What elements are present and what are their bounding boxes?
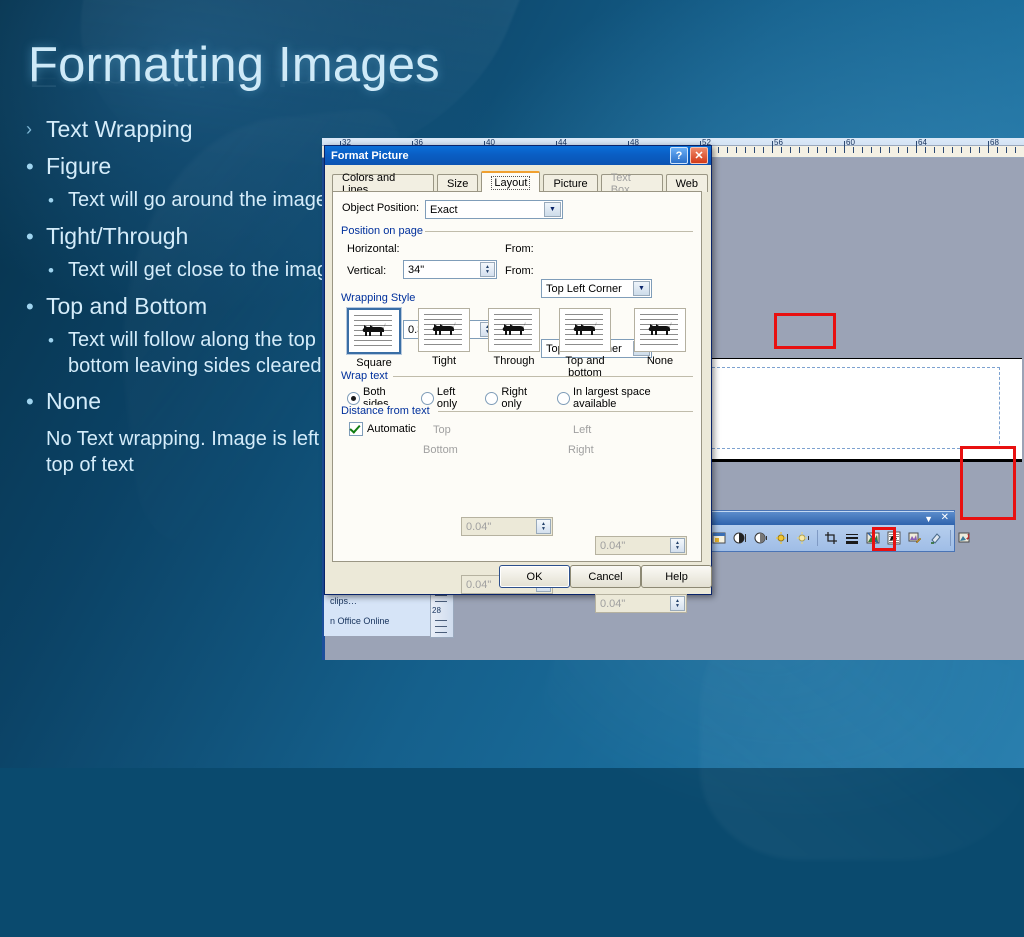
- wrap-style-label: None: [633, 355, 687, 367]
- bullet-marker-icon: ›: [26, 114, 46, 144]
- distance-group-label: Distance from text: [341, 405, 434, 417]
- ruler-tick-minor: [871, 147, 872, 153]
- insert-picture-icon[interactable]: [709, 528, 729, 548]
- right-label: Right: [568, 444, 594, 456]
- tab-web[interactable]: Web: [666, 174, 708, 192]
- wrap-style-preview-icon: [418, 308, 470, 352]
- ruler-tick-minor: [862, 147, 863, 153]
- wrapping-style-group-label: Wrapping Style: [341, 292, 419, 304]
- ruler-tick-minor: [790, 147, 791, 153]
- bullet-text: None: [46, 386, 101, 417]
- ruler-tick-minor: [979, 147, 980, 153]
- toolbar-separator: [950, 530, 951, 546]
- vertical-ruler-number: 28: [432, 606, 441, 615]
- automatic-label: Automatic: [367, 423, 416, 435]
- tab-label: Layout: [491, 176, 530, 190]
- ruler-tick-minor: [1006, 147, 1007, 153]
- dialog-tab-strip: Colors and LinesSizeLayoutPictureText Bo…: [332, 173, 711, 192]
- toolbar-button-row: [709, 527, 975, 549]
- toolbar-title-bar[interactable]: ▼ ✕: [707, 512, 955, 525]
- dialog-body: Colors and LinesSizeLayoutPictureText Bo…: [325, 165, 711, 594]
- reset-picture-icon[interactable]: [954, 528, 974, 548]
- ruler-tick-minor: [880, 147, 881, 153]
- tab-size[interactable]: Size: [437, 174, 478, 192]
- ruler-tick-major: [988, 141, 989, 153]
- ruler-tick-minor: [952, 147, 953, 153]
- checkbox-box[interactable]: [349, 422, 363, 436]
- dialog-title-bar[interactable]: Format Picture ? ✕: [325, 146, 711, 165]
- automatic-checkbox[interactable]: Automatic: [349, 422, 416, 436]
- more-brightness-icon[interactable]: [772, 528, 792, 548]
- bullet-text: Text Wrapping: [46, 114, 193, 144]
- horizontal-from-value: Top Left Corner: [546, 283, 622, 295]
- bullet-marker-icon: •: [48, 327, 68, 354]
- line-style-icon[interactable]: [842, 528, 862, 548]
- tab-label: Web: [676, 178, 698, 190]
- left-distance-stepper: ▲▼: [670, 538, 685, 553]
- ruler-tick-minor: [799, 147, 800, 153]
- bottom-label: Bottom: [423, 444, 458, 456]
- vertical-ruler[interactable]: 28: [430, 588, 454, 638]
- right-distance-value: 0.04": [600, 598, 625, 610]
- ruler-number: 68: [990, 138, 999, 147]
- horizontal-value: 34": [408, 264, 424, 276]
- object-position-value: Exact: [430, 204, 458, 216]
- ruler-number: 64: [918, 138, 927, 147]
- ruler-tick-minor: [745, 147, 746, 153]
- tab-colors-and-lines[interactable]: Colors and Lines: [332, 174, 434, 192]
- ruler-tick-minor: [817, 147, 818, 153]
- bullet-marker-icon: •: [26, 291, 46, 322]
- toolbar-options-dropdown-icon[interactable]: ▼: [924, 514, 933, 524]
- bullet-marker-icon: •: [26, 386, 46, 417]
- wrap-style-label: Tight: [417, 355, 471, 367]
- radio-dot[interactable]: [557, 392, 570, 405]
- wrap-text-group-label: Wrap text: [341, 370, 392, 382]
- ruler-tick-minor: [943, 147, 944, 153]
- help-button[interactable]: Help: [641, 565, 712, 588]
- cancel-button[interactable]: Cancel: [570, 565, 641, 588]
- format-picture-dialog: Format Picture ? ✕ Colors and LinesSizeL…: [324, 145, 712, 595]
- position-on-page-group-label: Position on page: [341, 225, 427, 237]
- wrap-text-radio-right-only[interactable]: Right only: [485, 386, 548, 410]
- bullet-text: Tight/Through: [46, 221, 188, 252]
- bullet-marker-icon: •: [48, 257, 68, 284]
- slide-bullet-level3: •Text will get close to the image: [48, 257, 356, 284]
- horizontal-from-label: From:: [505, 243, 534, 255]
- ruler-tick-minor: [925, 147, 926, 153]
- ruler-tick-minor: [826, 147, 827, 153]
- slide-bullet-level2: •Top and Bottom: [26, 291, 356, 322]
- ruler-tick-minor: [718, 147, 719, 153]
- ruler-tick-minor: [763, 147, 764, 153]
- more-contrast-icon[interactable]: [730, 528, 750, 548]
- toolbar-highlight-box: [872, 527, 896, 551]
- toolbar-close-icon[interactable]: ✕: [941, 513, 949, 523]
- radio-label: Left only: [437, 386, 477, 410]
- bullet-text: Text will go around the image: [68, 187, 327, 213]
- vertical-label: Vertical:: [347, 265, 386, 277]
- vertical-from-label: From:: [505, 265, 534, 277]
- radio-dot[interactable]: [347, 392, 360, 405]
- chevron-down-icon[interactable]: ▼: [544, 202, 561, 217]
- ruler-tick-major: [844, 141, 845, 153]
- left-distance-value: 0.04": [600, 540, 625, 552]
- ruler-tick-minor: [727, 147, 728, 153]
- right-distance-stepper: ▲▼: [670, 596, 685, 611]
- ruler-tick-minor: [934, 147, 935, 153]
- crop-icon[interactable]: [821, 528, 841, 548]
- ruler-tick-minor: [853, 147, 854, 153]
- bullet-text: Text will follow along the top and botto…: [68, 327, 356, 379]
- radio-label: Right only: [501, 386, 548, 410]
- horizontal-stepper[interactable]: ▲▼: [480, 262, 495, 277]
- slide-paragraph: No Text wrapping. Image is left on top o…: [46, 426, 356, 478]
- ruler-tick-minor: [997, 147, 998, 153]
- top-distance-stepper: ▲▼: [536, 519, 551, 534]
- ruler-tick-minor: [961, 147, 962, 153]
- ruler-tick-minor: [907, 147, 908, 153]
- picture-toolbar: ▼ ✕: [705, 510, 955, 552]
- ok-button[interactable]: OK: [499, 565, 570, 588]
- wrap-style-label: Through: [487, 355, 541, 367]
- less-brightness-icon[interactable]: [793, 528, 813, 548]
- wrap-style-preview-icon: [634, 308, 686, 352]
- tab-label: Picture: [553, 178, 587, 190]
- less-contrast-icon[interactable]: [751, 528, 771, 548]
- wrapping-style-square[interactable]: Square: [347, 308, 401, 369]
- horizontal-label: Horizontal:: [347, 243, 400, 255]
- top-distance-value: 0.04": [466, 521, 491, 533]
- clip-art-task-pane: clips… n Office Online: [322, 588, 432, 636]
- object-position-label: Object Position:: [342, 202, 419, 214]
- right-distance-input: 0.04" ▲▼: [595, 594, 687, 613]
- wrapping-style-through[interactable]: Through: [487, 308, 541, 367]
- bullet-text: Figure: [46, 151, 111, 182]
- slide-bullet-level2: •None: [26, 386, 356, 417]
- bullet-marker-icon: •: [26, 151, 46, 182]
- close-icon[interactable]: ✕: [690, 147, 708, 164]
- top-label: Top: [433, 424, 451, 436]
- ruler-tick-minor: [835, 147, 836, 153]
- ruler-tick-minor: [970, 147, 971, 153]
- dialog-button-row: OK Cancel Help: [325, 565, 711, 593]
- tab-layout[interactable]: Layout: [481, 171, 540, 192]
- taskpane-link-office-online[interactable]: n Office Online: [330, 616, 389, 626]
- help-icon[interactable]: ?: [670, 147, 688, 164]
- bullet-marker-icon: •: [48, 187, 68, 214]
- wrap-style-preview-icon: [559, 308, 611, 352]
- radio-dot[interactable]: [485, 392, 498, 405]
- wrap-style-preview-icon: [488, 308, 540, 352]
- ruler-tick-minor: [781, 147, 782, 153]
- tab-text-box: Text Box: [601, 174, 663, 192]
- page-title: Formatting Images: [28, 41, 440, 90]
- dialog-title: Format Picture: [331, 150, 668, 162]
- slide-bullet-list: ›Text Wrapping•Figure•Text will go aroun…: [26, 108, 356, 478]
- layout-tab-panel: Object Position: Exact ▼ Position on pag…: [332, 191, 702, 562]
- ruler-tick-minor: [736, 147, 737, 153]
- ruler-tick-major: [916, 141, 917, 153]
- ruler-tick-minor: [1015, 147, 1016, 153]
- set-transparent-color-icon[interactable]: [926, 528, 946, 548]
- ruler-number: 60: [846, 138, 855, 147]
- wrap-text-radio-in-largest-space-available[interactable]: In largest space available: [557, 386, 692, 410]
- wrapping-style-none[interactable]: None: [633, 308, 687, 367]
- paragraph-text: No Text wrapping. Image is left on top o…: [46, 426, 356, 478]
- top-distance-input: 0.04" ▲▼: [461, 517, 553, 536]
- slide-bullet-level2: •Figure: [26, 151, 356, 182]
- ruler-number: 56: [774, 138, 783, 147]
- taskpane-link-clips[interactable]: clips…: [330, 596, 357, 606]
- radio-dot[interactable]: [421, 392, 434, 405]
- ruler-tick-minor: [754, 147, 755, 153]
- slide-bullet-level3: •Text will follow along the top and bott…: [48, 327, 356, 379]
- chevron-down-icon[interactable]: ▼: [633, 281, 650, 296]
- wrap-style-label: Square: [347, 357, 401, 369]
- ruler-tick-minor: [898, 147, 899, 153]
- format-picture-icon[interactable]: [905, 528, 925, 548]
- left-label: Left: [573, 424, 591, 436]
- radio-label: In largest space available: [573, 386, 692, 410]
- wrap-style-preview-icon: [347, 308, 401, 354]
- bullet-text: Top and Bottom: [46, 291, 207, 322]
- ruler-tick-major: [772, 141, 773, 153]
- ruler-tick-minor: [889, 147, 890, 153]
- horizontal-input[interactable]: 34" ▲▼: [403, 260, 497, 279]
- slide-bullet-level3: •Text will go around the image: [48, 187, 356, 214]
- left-distance-input: 0.04" ▲▼: [595, 536, 687, 555]
- tab-picture[interactable]: Picture: [543, 174, 597, 192]
- bullet-marker-icon: •: [26, 221, 46, 252]
- slide-bullet-level2: •Tight/Through: [26, 221, 356, 252]
- toolbar-separator: [817, 530, 818, 546]
- horizontal-from-select[interactable]: Top Left Corner ▼: [541, 279, 652, 298]
- wrapping-style-tight[interactable]: Tight: [417, 308, 471, 367]
- tab-label: Size: [447, 178, 468, 190]
- ruler-tick-minor: [808, 147, 809, 153]
- slide-bullet-level1: ›Text Wrapping: [26, 114, 356, 144]
- object-position-select[interactable]: Exact ▼: [425, 200, 563, 219]
- bullet-text: Text will get close to the image: [68, 257, 339, 283]
- wrapping-style-top-and-bottom[interactable]: Top and bottom: [551, 308, 619, 379]
